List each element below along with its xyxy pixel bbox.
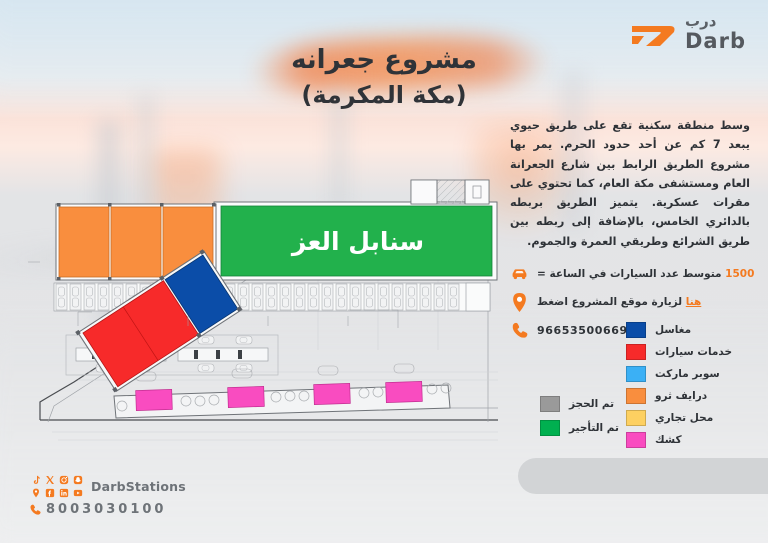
legend-swatch-supermarket [626, 366, 646, 382]
phone-icon [510, 321, 529, 340]
project-title-line2: (مكة المكرمة) [0, 80, 768, 110]
contact-phone: 966535006694 [537, 324, 636, 337]
plan-block-kiosk-3[interactable] [314, 383, 351, 404]
location-label: لزيارة موقع المشروع اضغط [537, 296, 682, 308]
legend-item-kiosk: كشك [626, 432, 746, 448]
info-traffic-text: 1500 متوسط عدد السيارات في الساعة = [537, 268, 754, 280]
legend-label-supermarket: سوبر ماركت [655, 368, 720, 380]
youtube-icon[interactable] [72, 487, 83, 498]
traffic-label: متوسط عدد السيارات في الساعة = [537, 268, 722, 280]
plan-main-strip: سنابل العز [214, 202, 497, 280]
plan-block-drive-thru-2[interactable] [111, 207, 161, 277]
plan-block-kiosk-2[interactable] [228, 386, 265, 407]
info-location-text: هنا لزيارة موقع المشروع اضغط [537, 296, 701, 308]
legend-item-retail-shop: محل تجاري [626, 410, 746, 426]
slide-canvas: درب Darb مشروع جعرانه (مكة المكرمة) [0, 0, 768, 543]
social-row-2 [30, 487, 83, 498]
legend-item-leased: تم التأجير [540, 420, 640, 436]
phone-icon-footer [30, 504, 41, 515]
project-description: وسط منطقة سكنية تقع على طريق حيوي يبعد 7… [510, 116, 750, 251]
legend-item-car-services: خدمات سيارات [626, 344, 746, 360]
social-row-1 [30, 474, 83, 485]
legend-label-retail-shop: محل تجاري [655, 412, 713, 424]
legend-label-laundry: مغاسل [655, 324, 691, 336]
legend-swatch-reserved [540, 396, 560, 412]
legend-label-car-services: خدمات سيارات [655, 346, 732, 358]
location-pin-icon [510, 293, 529, 312]
car-icon [510, 265, 529, 284]
location-icon[interactable] [30, 487, 41, 498]
tiktok-icon[interactable] [30, 474, 41, 485]
legend-label-leased: تم التأجير [569, 422, 619, 434]
legend-label-kiosk: كشك [655, 434, 682, 446]
legend-label-drive-thru: درايف ثرو [655, 390, 707, 402]
info-row-location[interactable]: هنا لزيارة موقع المشروع اضغط [510, 293, 750, 312]
instagram-icon[interactable] [58, 474, 69, 485]
linkedin-icon[interactable] [58, 487, 69, 498]
plan-utility-rooms [411, 180, 489, 204]
site-plan: سنابل العز [18, 150, 518, 450]
plan-block-drive-thru-1[interactable] [59, 207, 109, 277]
footer: DarbStations 8003030100 [30, 474, 186, 517]
footer-phone-number: 8003030100 [46, 502, 166, 517]
legend-item-laundry: مغاسل [626, 322, 746, 338]
page-title: مشروع جعرانه (مكة المكرمة) [0, 44, 768, 110]
traffic-value: 1500 [725, 268, 754, 280]
legend-item-drive-thru: درايف ثرو [626, 388, 746, 404]
footer-phone-row[interactable]: 8003030100 [30, 502, 186, 517]
legend-label-reserved: تم الحجز [569, 398, 614, 410]
x-icon[interactable] [44, 474, 55, 485]
legend-swatch-laundry [626, 322, 646, 338]
legend-item-reserved: تم الحجز [540, 396, 640, 412]
legend-swatch-car-services [626, 344, 646, 360]
legend-swatch-leased [540, 420, 560, 436]
bottom-gray-bar [518, 458, 768, 494]
info-panel: وسط منطقة سكنية تقع على طريق حيوي يبعد 7… [510, 116, 750, 349]
social-handle: DarbStations [91, 479, 186, 494]
info-row-traffic: 1500 متوسط عدد السيارات في الساعة = [510, 265, 750, 284]
plan-tenant-label: سنابل العز [290, 227, 424, 257]
project-title-line1: مشروع جعرانه [0, 44, 768, 77]
plan-block-kiosk-1[interactable] [136, 389, 173, 410]
snapchat-icon[interactable] [72, 474, 83, 485]
map-link-here[interactable]: هنا [686, 296, 702, 308]
legend-item-supermarket: سوبر ماركت [626, 366, 746, 382]
legend-status: تم الحجز تم التأجير [540, 396, 640, 444]
social-block: DarbStations [30, 474, 186, 498]
plan-block-kiosk-4[interactable] [386, 381, 423, 402]
legend-unit-types: مغاسل خدمات سيارات سوبر ماركت درايف ثرو … [626, 322, 746, 454]
facebook-icon[interactable] [44, 487, 55, 498]
social-icon-grid [30, 474, 83, 498]
brand-name-arabic: درب [685, 14, 716, 29]
